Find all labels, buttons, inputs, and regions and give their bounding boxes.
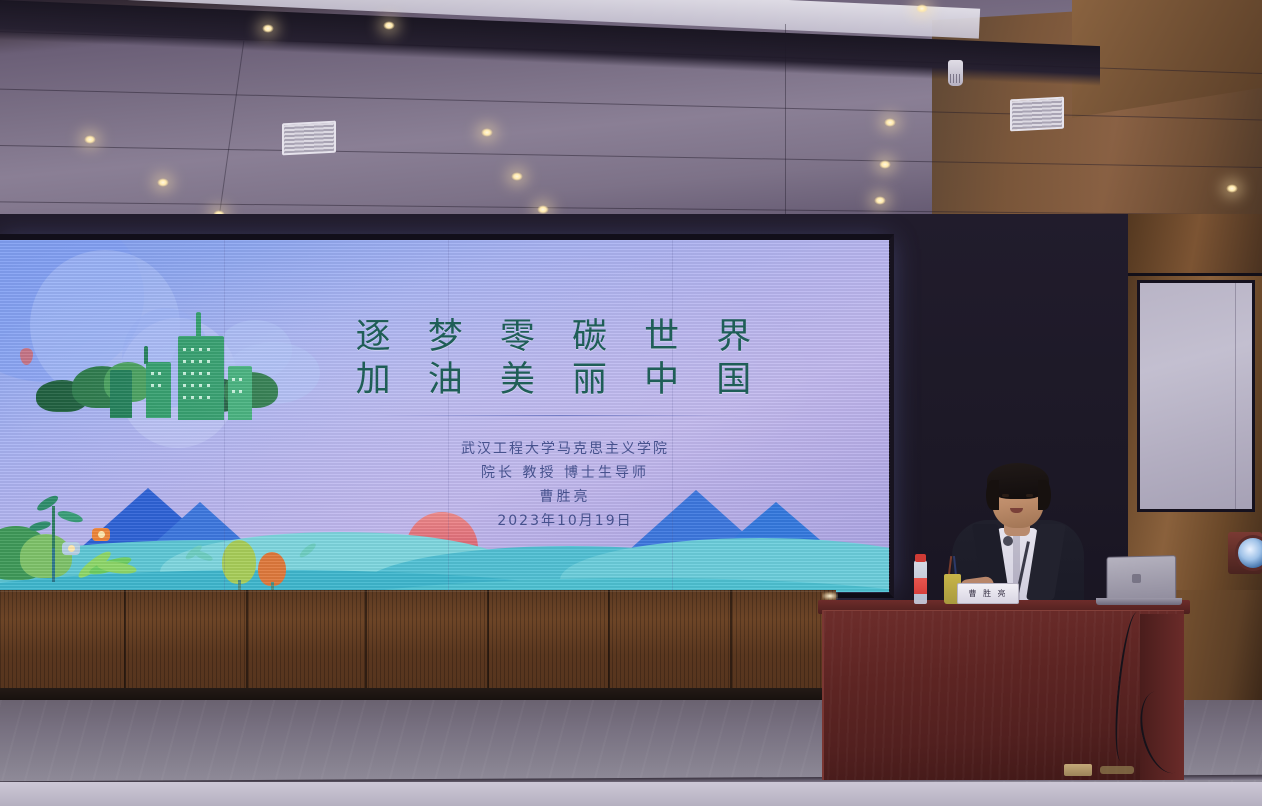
slide-title-line-1: 逐 梦 零 碳 世 界 — [300, 316, 820, 359]
slide-subtitle-titles: 院长 教授 博士生导师 — [330, 461, 800, 485]
title-divider — [375, 415, 745, 416]
water-bottle-label — [914, 578, 927, 594]
downlight — [884, 118, 896, 127]
nameplate-text: 曹 胜 亮 — [968, 588, 1007, 599]
downlight — [262, 24, 274, 33]
speaker-nameplate: 曹 胜 亮 — [957, 583, 1019, 604]
downlight — [511, 172, 523, 181]
laptop-logo-icon — [1132, 574, 1141, 583]
downlight — [537, 205, 549, 214]
stage-edge-light — [822, 592, 838, 600]
ceiling-seam-vertical — [785, 24, 786, 232]
downlight — [874, 196, 886, 205]
slide-subtitle-name: 曹胜亮 — [330, 485, 800, 509]
wall-wood-panel-upper-right — [1128, 214, 1262, 276]
floor-power-box — [1064, 764, 1092, 776]
side-projection-screen — [1137, 280, 1255, 512]
downlight — [879, 160, 891, 169]
slide-title-block: 逐 梦 零 碳 世 界 加 油 美 丽 中 国 — [300, 316, 820, 416]
auditorium-scene: ♻ 垃圾分类 逐 梦 零 碳 世 界 加 油 美 丽 中 国 武汉工程大学马克思… — [0, 0, 1262, 806]
floor-cable-bundle — [1100, 766, 1134, 774]
microphone-icon — [1003, 536, 1013, 546]
speaker-eye-left — [1002, 494, 1009, 497]
speaker-eye-right — [1026, 494, 1033, 497]
floor-foreground — [0, 782, 1262, 806]
smoke-detector-icon — [948, 60, 963, 86]
downlight — [157, 178, 169, 187]
ceiling-seam-diagonal — [217, 41, 245, 231]
laptop-keyboard-base[interactable] — [1096, 598, 1182, 605]
laptop-screen[interactable] — [1107, 555, 1177, 603]
downlight — [383, 21, 395, 30]
downlight — [916, 4, 928, 13]
slide-subtitle-block: 武汉工程大学马克思主义学院 院长 教授 博士生导师 曹胜亮 2023年10月19… — [330, 437, 800, 533]
air-vent-icon — [282, 121, 336, 156]
ceiling — [0, 0, 1262, 232]
wall-emblem-icon — [1238, 538, 1262, 568]
air-vent-icon — [1010, 97, 1064, 132]
speaker-hair-right — [1038, 480, 1051, 510]
downlight — [481, 128, 493, 137]
led-screen-bezel — [0, 234, 894, 598]
downlight — [84, 135, 96, 144]
speaker-hair-left — [986, 480, 999, 510]
water-bottle-cap — [915, 554, 926, 562]
slide-title-line-2: 加 油 美 丽 中 国 — [300, 359, 820, 402]
slide-subtitle-date: 2023年10月19日 — [330, 509, 800, 533]
downlight — [1226, 184, 1238, 193]
slide-subtitle-org: 武汉工程大学马克思主义学院 — [330, 437, 800, 461]
